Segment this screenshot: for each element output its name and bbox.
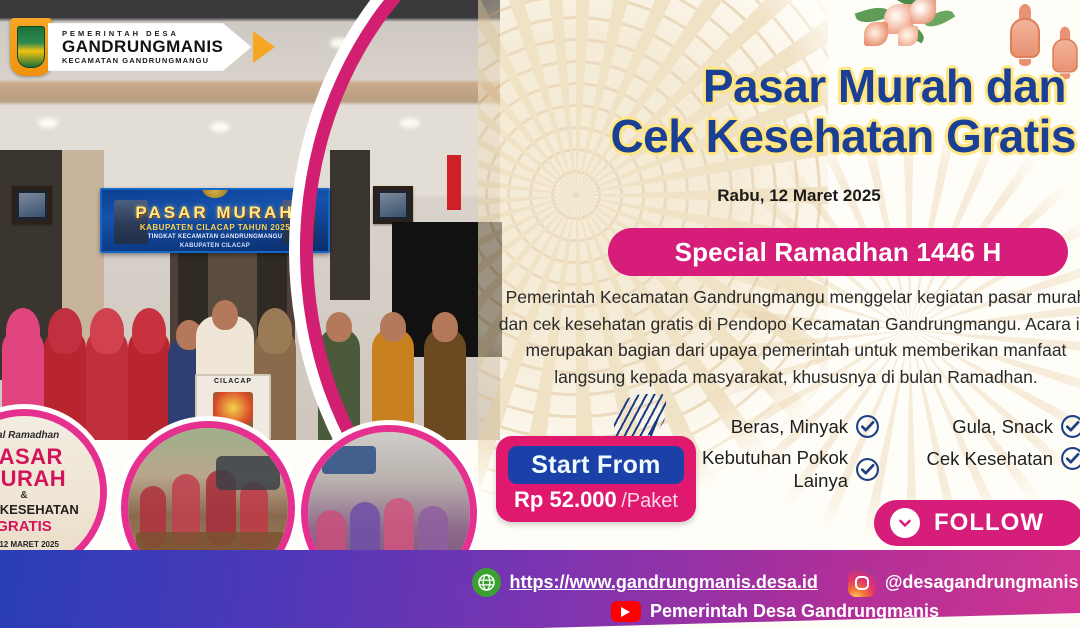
garuda-emblem-icon [202, 188, 228, 198]
wall-portrait-left [12, 186, 52, 224]
flyer-cek-text: KSA KESEHATAN [0, 502, 100, 517]
follow-button[interactable]: FOLLOW [874, 500, 1080, 546]
price-box: Start From Rp 52.000 /Paket [496, 436, 696, 522]
feature-item: Cek Kesehatan [890, 446, 1080, 471]
instagram-icon [848, 569, 876, 597]
banner-line3: TINGKAT KECAMATAN GANDRUNGMANGU [102, 234, 328, 240]
price-row: Rp 52.000 /Paket [496, 487, 696, 513]
event-stage-banner: PASAR MURAH KABUPATEN CILACAP TAHUN 2025… [100, 188, 330, 253]
feature-item: Kebutuhan Pokok Lainya [690, 446, 880, 492]
promotional-poster: PASAR MURAH KABUPATEN CILACAP TAHUN 2025… [0, 0, 1080, 628]
content-panel: Pasar Murah dan Cek Kesehatan Gratis Rab… [478, 0, 1080, 628]
logo-subtitle: KECAMATAN GANDRUNGMANGU [62, 56, 223, 65]
hero-title-line1: Pasar Murah dan [478, 62, 1076, 112]
feature-label: Cek Kesehatan [926, 448, 1053, 470]
footer-bar: https://www.gandrungmanis.desa.id @desag… [0, 550, 1080, 628]
banner-title: PASAR MURAH [102, 203, 328, 223]
website-url: https://www.gandrungmanis.desa.id [510, 572, 818, 593]
flyer-amp-text: & [0, 490, 100, 501]
feature-label: Beras, Minyak [731, 416, 848, 438]
event-date: Rabu, 12 Maret 2025 [478, 186, 1080, 206]
flyer-gratis-text: GRATIS [0, 518, 100, 535]
banner-line4: KABUPATEN CILACAP [102, 243, 328, 249]
price-amount: Rp 52.000 [514, 487, 617, 512]
ramadhan-badge-label: Special Ramadhan 1446 H [675, 237, 1002, 268]
logo-name: GANDRUNGMANIS [62, 38, 223, 56]
website-link[interactable]: https://www.gandrungmanis.desa.id [472, 568, 818, 597]
chevron-right-icon [253, 31, 275, 63]
podium-label: CILACAP [197, 378, 269, 385]
chevron-down-circle-icon [890, 508, 920, 538]
ramadan-lantern-icon [1008, 4, 1042, 66]
check-circle-icon [1060, 414, 1080, 439]
flyer-ramadhan-text: sial Ramadhan [0, 430, 100, 441]
footer-row-secondary: Pemerintah Desa Gandrungmanis [0, 601, 1080, 622]
price-unit: /Paket [621, 490, 678, 512]
youtube-link[interactable]: Pemerintah Desa Gandrungmanis [611, 601, 939, 622]
check-circle-icon [1060, 446, 1080, 471]
banner-line2: KABUPATEN CILACAP TAHUN 2025 [102, 223, 328, 232]
instagram-link[interactable]: @desagandrungmanis [848, 569, 1079, 597]
feature-column-left: Beras, Minyak Kebutuhan Pokok Lainya [690, 414, 880, 499]
follow-label: FOLLOW [934, 509, 1044, 537]
flyer-murah-text: MURAH [0, 466, 100, 492]
village-seal-icon [10, 18, 52, 76]
photo-collage-area: PASAR MURAH KABUPATEN CILACAP TAHUN 2025… [0, 0, 520, 628]
hero-title-line2: Cek Kesehatan Gratis [478, 112, 1076, 162]
flyer-date-text: U, 12 MARET 2025 [0, 540, 100, 549]
feature-label: Gula, Snack [952, 416, 1053, 438]
logo-nameplate: PEMERINTAH DESA GANDRUNGMANIS KECAMATAN … [48, 23, 251, 71]
hero-title: Pasar Murah dan Cek Kesehatan Gratis [478, 62, 1080, 161]
footer-row-primary: https://www.gandrungmanis.desa.id @desag… [0, 568, 1080, 597]
feature-item: Gula, Snack [890, 414, 1080, 439]
youtube-channel: Pemerintah Desa Gandrungmanis [650, 601, 939, 622]
feature-column-right: Gula, Snack Cek Kesehatan [890, 414, 1080, 478]
start-from-button[interactable]: Start From [508, 446, 684, 484]
feature-item: Beras, Minyak [690, 414, 880, 439]
check-circle-icon [855, 414, 880, 439]
youtube-icon [611, 601, 641, 622]
start-from-label: Start From [531, 451, 660, 480]
check-circle-icon [855, 457, 880, 482]
event-flyer-thumbnail: sial Ramadhan PASAR MURAH & KSA KESEHATA… [0, 416, 100, 568]
village-logo-chip: PEMERINTAH DESA GANDRUNGMANIS KECAMATAN … [10, 18, 275, 76]
feature-label: Kebutuhan Pokok Lainya [690, 446, 848, 492]
globe-icon [472, 568, 501, 597]
event-description: Pemerintah Kecamatan Gandrungmangu mengg… [496, 284, 1080, 390]
instagram-handle: @desagandrungmanis [885, 572, 1079, 593]
footer-content: https://www.gandrungmanis.desa.id @desag… [0, 568, 1080, 622]
ramadhan-badge: Special Ramadhan 1446 H [608, 228, 1068, 276]
cilacap-crest-icon [213, 392, 253, 432]
